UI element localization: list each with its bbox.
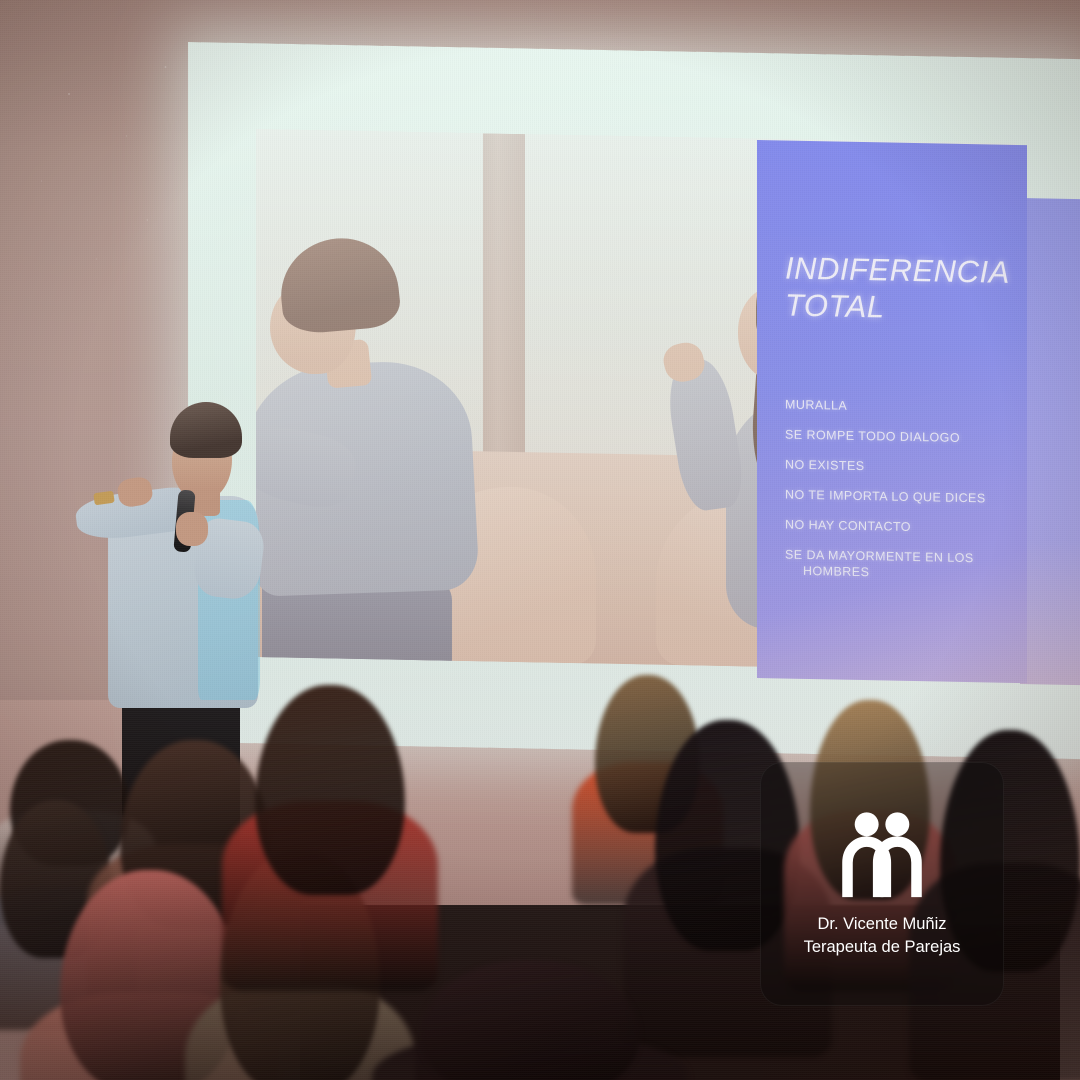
watermark-card: Dr. Vicente Muñiz Terapeuta de Parejas (760, 762, 1004, 1006)
watermark-role: Terapeuta de Parejas (804, 936, 961, 959)
slide-bullet: NO EXISTES (785, 457, 1035, 478)
slide-bullet: MURALLA (785, 397, 1035, 418)
slide-title-line-1: INDIFERENCIA (785, 251, 1017, 292)
watermark-name: Dr. Vicente Muñiz (817, 913, 946, 936)
slide-text-panel: INDIFERENCIA TOTAL MURALLASE ROMPE TODO … (757, 140, 1027, 683)
audience-woman-red-dress-head (255, 685, 405, 895)
slide-bullet-list: MURALLASE ROMPE TODO DIALOGONO EXISTESNO… (785, 397, 1035, 598)
slide-bullet-continuation: HOMBRES (785, 563, 1035, 584)
speaker-right-hand (176, 512, 208, 546)
slide-title-line-2: TOTAL (785, 287, 1017, 328)
slide-bullet: NO HAY CONTACTO (785, 517, 1035, 538)
slide-bullet: NO TE IMPORTA LO QUE DICES (785, 487, 1035, 508)
photo-canvas: INDIFERENCIA TOTAL MURALLASE ROMPE TODO … (0, 0, 1080, 1080)
two-people-logo-icon (834, 809, 930, 901)
slide-title: INDIFERENCIA TOTAL (785, 251, 1017, 329)
slide-bullet: SE DA MAYORMENTE EN LOSHOMBRES (785, 547, 1035, 584)
slide-bullet: SE ROMPE TODO DIALOGO (785, 427, 1035, 448)
